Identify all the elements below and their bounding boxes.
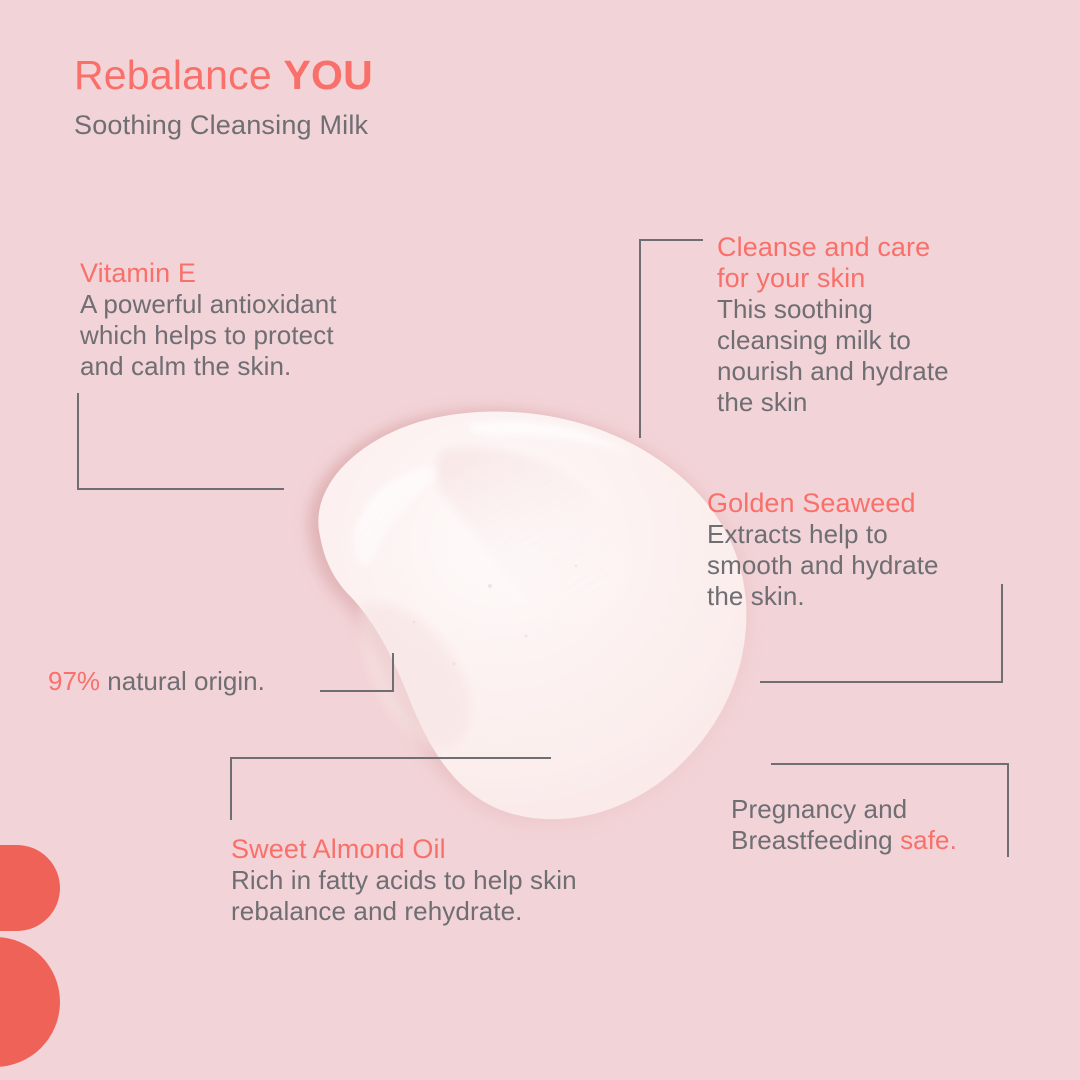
pregnancy-safe-line1: Pregnancy and	[731, 794, 957, 825]
infographic-canvas: Rebalance YOU Soothing Cleansing Milk Vi…	[0, 0, 1080, 1080]
callout-sweet-almond-heading: Sweet Almond Oil	[231, 834, 577, 865]
callout-vitamin-e-body: A powerful antioxidant which helps to pr…	[80, 289, 337, 382]
page-title: Rebalance YOU	[74, 52, 373, 99]
callout-cleanse-care: Cleanse and care for your skin This soot…	[717, 232, 949, 418]
pregnancy-safe-line2: Breastfeeding safe.	[731, 825, 957, 856]
callout-natural-origin: 97% natural origin.	[48, 666, 265, 697]
callout-pregnancy-safe: Pregnancy and Breastfeeding safe.	[731, 794, 957, 856]
natural-origin-percent: 97%	[48, 666, 100, 696]
callout-golden-seaweed: Golden Seaweed Extracts help to smooth a…	[707, 488, 939, 612]
cream-swatch-image	[258, 390, 788, 840]
callout-sweet-almond-body: Rich in fatty acids to help skin rebalan…	[231, 865, 577, 927]
callout-cleanse-care-body: This soothing cleansing milk to nourish …	[717, 294, 949, 418]
callout-vitamin-e-heading: Vitamin E	[80, 258, 337, 289]
natural-origin-label: natural origin.	[100, 666, 265, 696]
callout-vitamin-e: Vitamin E A powerful antioxidant which h…	[80, 258, 337, 382]
page-subtitle: Soothing Cleansing Milk	[74, 110, 368, 141]
natural-origin-text: 97% natural origin.	[48, 666, 265, 697]
b-logo-mark	[0, 845, 60, 1067]
title-bold: YOU	[283, 52, 372, 98]
callout-golden-seaweed-body: Extracts help to smooth and hydrate the …	[707, 519, 939, 612]
callout-golden-seaweed-heading: Golden Seaweed	[707, 488, 939, 519]
connector-vitamin-e	[78, 393, 284, 489]
pregnancy-safe-line2-plain: Breastfeeding	[731, 825, 900, 855]
callout-cleanse-care-heading: Cleanse and care for your skin	[717, 232, 949, 294]
title-light: Rebalance	[74, 52, 283, 98]
callout-sweet-almond: Sweet Almond Oil Rich in fatty acids to …	[231, 834, 577, 927]
pregnancy-safe-highlight: safe.	[900, 825, 957, 855]
b-logo-upper-lobe	[0, 845, 60, 931]
b-logo-lower-lobe	[0, 937, 60, 1067]
